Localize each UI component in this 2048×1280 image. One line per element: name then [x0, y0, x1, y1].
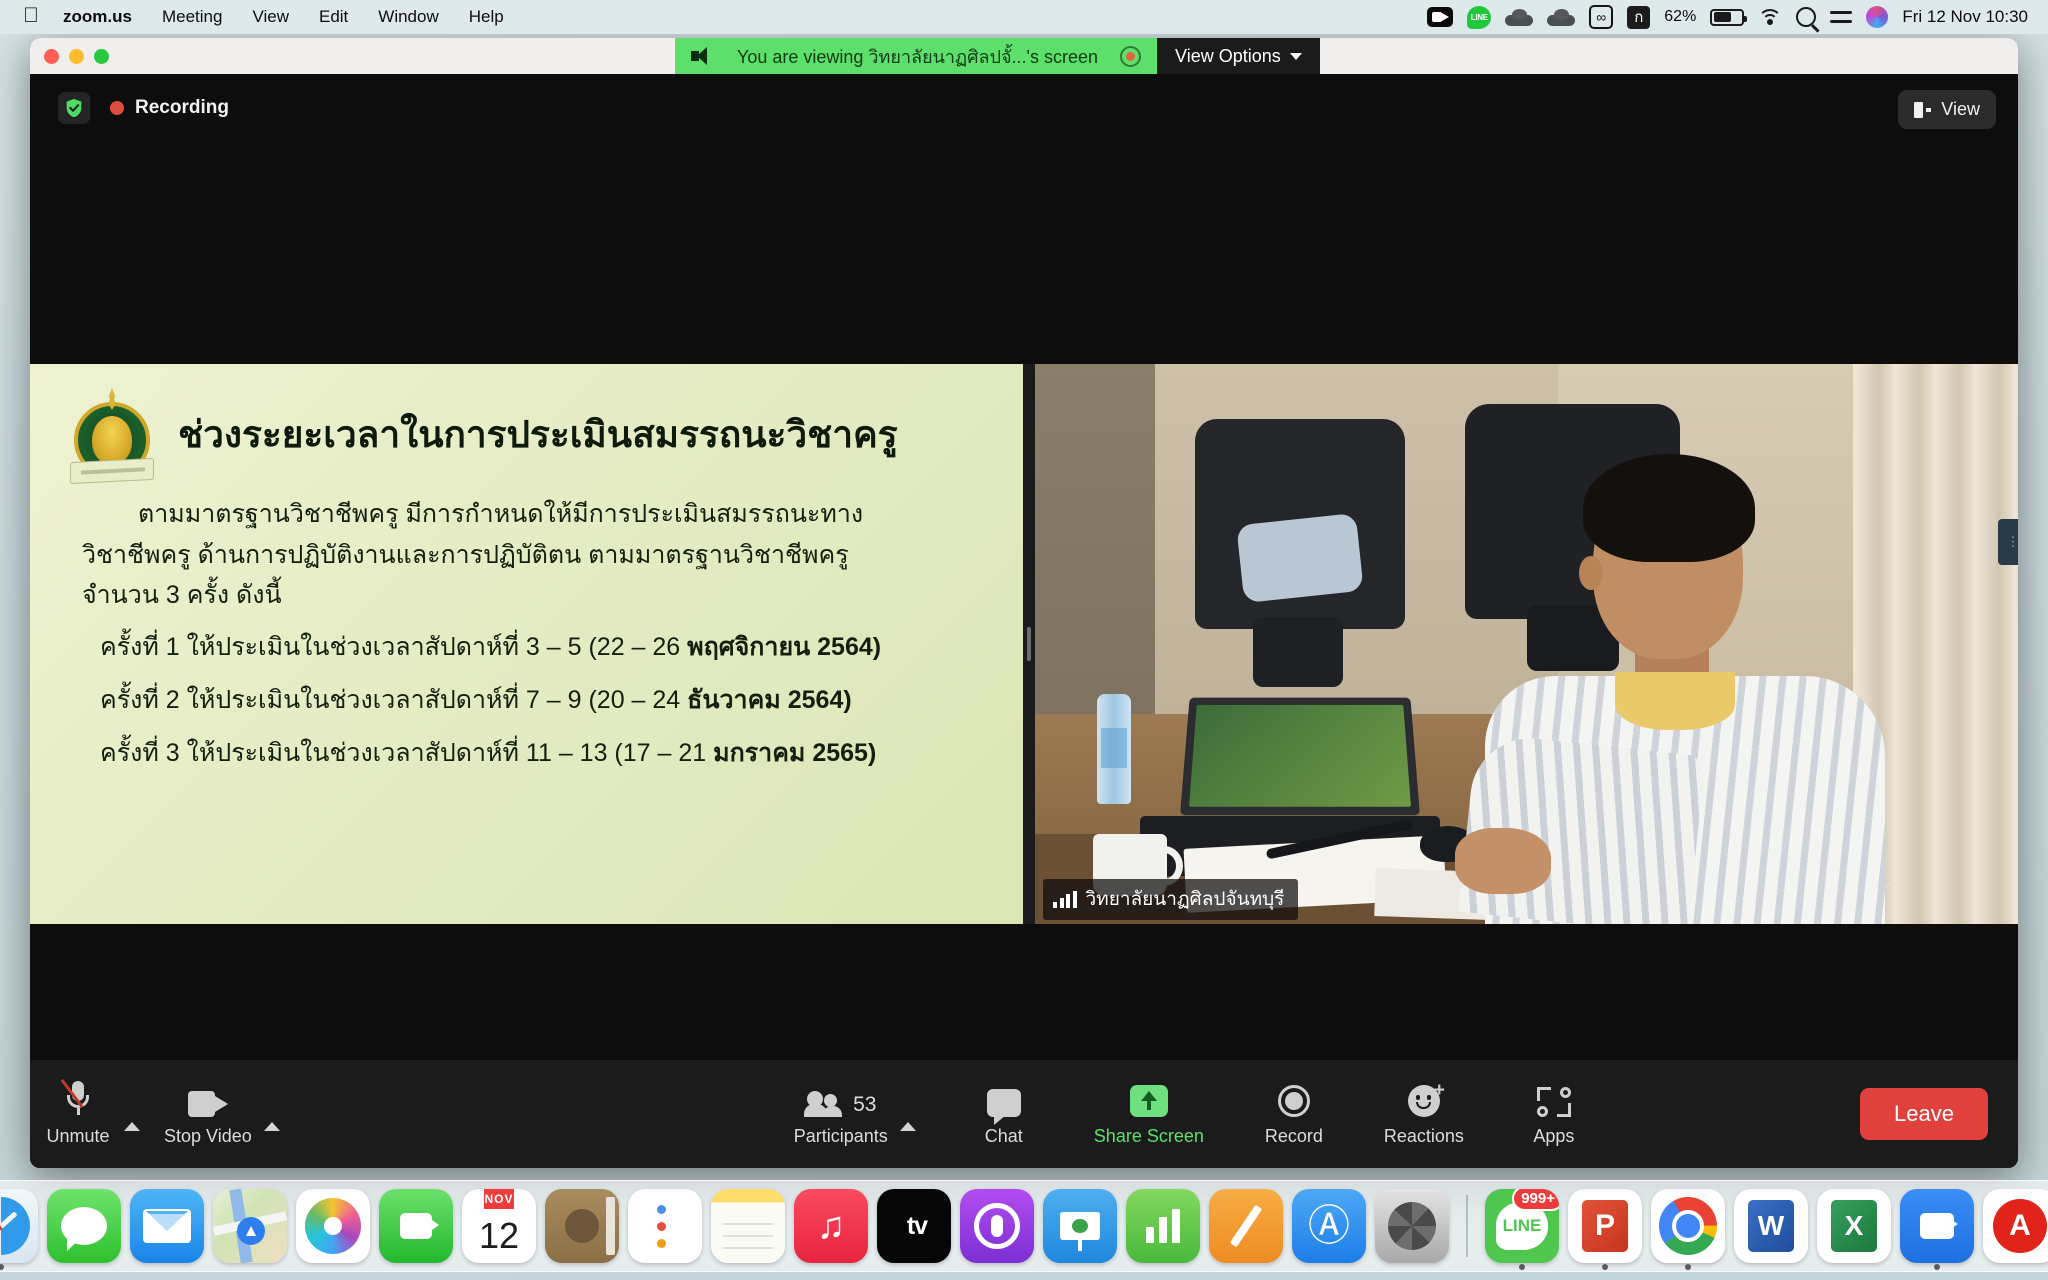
record-button[interactable]: Record — [1246, 1081, 1342, 1147]
running-indicator — [1685, 1264, 1691, 1270]
record-circle-icon — [1278, 1081, 1310, 1117]
dock-item-app-store-wrap: Ⓐ — [1292, 1189, 1366, 1263]
dock-item-app-store[interactable]: Ⓐ — [1292, 1189, 1366, 1263]
slide-paragraph-line-2: วิชาชีพครู ด้านการปฏิบัติงานและการปฏิบัต… — [82, 541, 849, 569]
line-icon[interactable]: LINE — [1467, 6, 1491, 29]
calendar-day: 12 — [479, 1209, 519, 1263]
dock-item-acrobat[interactable]: A — [1983, 1189, 2048, 1263]
participants-controls: 53 Participants — [780, 1081, 926, 1147]
bullet-3-bold: มกราคม 2565) — [713, 739, 876, 767]
menu-item-window[interactable]: Window — [363, 4, 453, 30]
dock-item-apple-tv-wrap: tv — [877, 1189, 951, 1263]
menu-bar-status-area: LINE ∞ ก 62% Fri 12 Nov 10:30 — [1427, 5, 2034, 29]
word-letter: W — [1748, 1200, 1794, 1252]
running-indicator — [1519, 1264, 1525, 1270]
bullet-3-text: ครั้งที่ 3 ให้ประเมินในช่วงเวลาสัปดาห์ที… — [100, 739, 713, 767]
participant-name-label: วิทยาลัยนาฏศิลปจันทบุรี — [1043, 879, 1298, 920]
battery-icon[interactable] — [1710, 9, 1744, 26]
slide-bullet-item: ครั้งที่ 1 ให้ประเมินในช่วงเวลาสัปดาห์ที… — [100, 632, 1023, 662]
apple-logo-icon[interactable]:  — [14, 5, 48, 29]
thai-input-icon[interactable]: ก — [1627, 6, 1650, 29]
participants-label: Participants — [794, 1126, 888, 1147]
dock-item-numbers[interactable] — [1126, 1189, 1200, 1263]
dock-item-powerpoint-wrap: P — [1568, 1189, 1642, 1263]
dock-item-excel[interactable]: X — [1817, 1189, 1891, 1263]
menu-item-help[interactable]: Help — [454, 4, 519, 30]
unmute-label: Unmute — [46, 1126, 109, 1147]
dock-item-messages-wrap — [47, 1189, 121, 1263]
stop-video-button[interactable]: Stop Video — [150, 1081, 266, 1147]
apps-label: Apps — [1533, 1126, 1574, 1147]
zoom-content-area: Recording View ช่วงระยะเวลาในการประเมินส… — [30, 74, 2018, 1168]
menu-item-view[interactable]: View — [237, 4, 304, 30]
dock-item-music-wrap: ♫ — [794, 1189, 868, 1263]
mac-menu-bar:  zoom.us Meeting View Edit Window Help … — [0, 0, 2048, 34]
slide-bullet-list: ครั้งที่ 1 ให้ประเมินในช่วงเวลาสัปดาห์ที… — [30, 616, 1023, 768]
camera-icon — [188, 1081, 228, 1117]
dock-item-safari-wrap — [0, 1189, 38, 1263]
dock-item-notes-wrap — [711, 1189, 785, 1263]
running-indicator — [0, 1264, 4, 1270]
recording-indicator[interactable]: Recording — [110, 97, 229, 119]
video-laptop — [1180, 698, 1420, 816]
participants-count: 53 — [853, 1093, 876, 1117]
chat-label: Chat — [985, 1126, 1023, 1147]
line-unread-badge: 999+ — [1512, 1189, 1559, 1211]
mac-dock: ▲ NOV 12 — [0, 1180, 2048, 1272]
slide-bullet-item: ครั้งที่ 3 ให้ประเมินในช่วงเวลาสัปดาห์ที… — [100, 738, 1023, 768]
video-person — [1475, 444, 1895, 924]
dock-item-maps-wrap: ▲ — [213, 1189, 287, 1263]
reactions-button[interactable]: + Reactions — [1370, 1081, 1478, 1147]
dock-item-reminders[interactable] — [628, 1189, 702, 1263]
people-icon: 53 — [805, 1081, 876, 1117]
music-note-icon: ♫ — [817, 1207, 846, 1245]
control-center-icon[interactable] — [1830, 8, 1852, 26]
slide-paragraph-line-1: ตามมาตรฐานวิชาชีพครู มีการกำหนดให้มีการป… — [138, 500, 863, 528]
video-options-caret[interactable] — [264, 1105, 280, 1123]
recording-label: Recording — [135, 97, 229, 119]
slide-bullet-item: ครั้งที่ 2 ให้ประเมินในช่วงเวลาสัปดาห์ที… — [100, 685, 1023, 715]
zoom-toolbar: Unmute Stop Video — [30, 1060, 2018, 1168]
share-screen-label: Share Screen — [1094, 1126, 1204, 1147]
recording-status-bar: Recording — [58, 92, 229, 124]
zoom-meeting-window: You are viewing วิทยาลัยนาฏศิลปจั้...'s … — [30, 38, 2018, 1168]
dock-item-excel-wrap: X — [1817, 1189, 1891, 1263]
menu-item-zoom-us[interactable]: zoom.us — [48, 4, 147, 30]
dock-item-keynote-wrap — [1043, 1189, 1117, 1263]
dock-item-powerpoint[interactable]: P — [1568, 1189, 1642, 1263]
menu-bar-clock[interactable]: Fri 12 Nov 10:30 — [1902, 7, 2028, 27]
view-layout-button[interactable]: View — [1898, 90, 1996, 129]
slide-paragraph: ตามมาตรฐานวิชาชีพครู มีการกำหนดให้มีการป… — [30, 484, 1023, 616]
chevron-up-icon — [124, 1105, 140, 1131]
cloud-icon[interactable] — [1505, 9, 1533, 26]
stop-video-label: Stop Video — [164, 1126, 252, 1147]
chevron-up-icon — [264, 1105, 280, 1131]
menu-item-edit[interactable]: Edit — [304, 4, 363, 30]
microphone-muted-icon — [65, 1081, 91, 1117]
dock-item-photos-wrap — [296, 1189, 370, 1263]
screen-root:  zoom.us Meeting View Edit Window Help … — [0, 0, 2048, 1280]
dock-item-maps[interactable]: ▲ — [213, 1189, 287, 1263]
dock-item-system-preferences-wrap — [1375, 1189, 1449, 1263]
search-icon[interactable] — [1796, 7, 1816, 27]
calendar-month: NOV — [484, 1189, 513, 1209]
minimize-window-button[interactable] — [69, 49, 84, 64]
participant-video-tile[interactable]: วิทยาลัยนาฏศิลปจันทบุรี — [1035, 364, 2018, 924]
share-screen-button[interactable]: Share Screen — [1080, 1081, 1218, 1147]
dock-item-numbers-wrap — [1126, 1189, 1200, 1263]
dock-item-chrome-wrap — [1651, 1189, 1725, 1263]
cloud-icon[interactable] — [1547, 9, 1575, 26]
viewing-notice: You are viewing วิทยาลัยนาฏศิลปจั้...'s … — [675, 38, 1157, 74]
slide-paragraph-line-3: จำนวน 3 ครั้ง ดังนี้ — [82, 581, 282, 609]
bullet-1-text: ครั้งที่ 1 ให้ประเมินในช่วงเวลาสัปดาห์ที… — [100, 633, 687, 661]
participant-name-text: วิทยาลัยนาฏศิลปจันทบุรี — [1086, 884, 1285, 914]
dock-item-photos[interactable] — [296, 1189, 370, 1263]
speaker-icon — [691, 47, 715, 65]
dock-item-safari[interactable] — [0, 1189, 38, 1263]
apps-icon — [1537, 1081, 1571, 1117]
maximize-window-button[interactable] — [94, 49, 109, 64]
video-water-bottle — [1097, 694, 1131, 804]
reactions-label: Reactions — [1384, 1126, 1464, 1147]
audio-controls: Unmute — [30, 1081, 150, 1147]
share-screen-icon — [1130, 1081, 1168, 1117]
screen-share-banner: You are viewing วิทยาลัยนาฏศิลปจั้...'s … — [675, 38, 1320, 74]
recording-dot-icon — [110, 101, 124, 115]
dock-item-zoom-wrap — [1900, 1189, 1974, 1263]
dock-item-calendar[interactable]: NOV 12 — [462, 1189, 536, 1263]
siri-icon[interactable] — [1866, 6, 1888, 28]
dock-item-mail[interactable] — [130, 1189, 204, 1263]
dock-item-system-preferences[interactable] — [1375, 1189, 1449, 1263]
apps-button[interactable]: Apps — [1506, 1081, 1602, 1147]
wifi-icon[interactable] — [1758, 8, 1782, 26]
unmute-button[interactable]: Unmute — [30, 1081, 126, 1147]
shared-content-stage: ช่วงระยะเวลาในการประเมินสมรรถนะวิชาครู ต… — [30, 364, 2018, 924]
menu-item-meeting[interactable]: Meeting — [147, 4, 237, 30]
dock-item-word-wrap: W — [1734, 1189, 1808, 1263]
bullet-1-bold: พฤศจิกายน 2564) — [687, 633, 881, 661]
app-store-glyph: Ⓐ — [1308, 1205, 1350, 1247]
zoom-camera-icon[interactable] — [1427, 7, 1453, 27]
dock-item-chrome[interactable] — [1651, 1189, 1725, 1263]
dock-item-keynote[interactable] — [1043, 1189, 1117, 1263]
view-button-label: View — [1941, 99, 1980, 120]
encryption-shield-icon[interactable] — [58, 92, 90, 124]
side-panel-edge-tab[interactable]: ⋮ — [1998, 519, 2018, 565]
powerpoint-letter: P — [1582, 1200, 1628, 1252]
dock-item-contacts-wrap — [545, 1189, 619, 1263]
smiley-plus-icon: + — [1408, 1081, 1440, 1117]
dock-item-reminders-wrap — [628, 1189, 702, 1263]
dock-item-facetime-wrap — [379, 1189, 453, 1263]
dock-item-calendar-wrap: NOV 12 — [462, 1189, 536, 1263]
dock-item-mail-wrap — [130, 1189, 204, 1263]
bullet-2-text: ครั้งที่ 2 ให้ประเมินในช่วงเวลาสัปดาห์ที… — [100, 686, 687, 714]
thai-royal-emblem-logo — [68, 386, 156, 484]
dock-item-line-wrap: 999+ LINE — [1485, 1189, 1559, 1263]
running-indicator — [1934, 1264, 1940, 1270]
chevron-down-icon — [1290, 53, 1302, 60]
battery-percent-label: 62% — [1664, 8, 1696, 26]
dock-item-pages[interactable] — [1209, 1189, 1283, 1263]
shared-slide[interactable]: ช่วงระยะเวลาในการประเมินสมรรถนะวิชาครู ต… — [30, 364, 1023, 924]
adobe-creative-cloud-icon[interactable]: ∞ — [1589, 5, 1613, 29]
chat-bubble-icon — [987, 1081, 1021, 1117]
acrobat-letter: A — [1993, 1199, 2047, 1253]
slide-header: ช่วงระยะเวลาในการประเมินสมรรถนะวิชาครู — [30, 364, 1023, 484]
dock-item-line[interactable]: 999+ LINE — [1485, 1189, 1559, 1263]
dock-item-podcasts[interactable] — [960, 1189, 1034, 1263]
participants-options-caret[interactable] — [900, 1105, 916, 1123]
leave-button[interactable]: Leave — [1860, 1088, 1988, 1140]
dock-item-zoom[interactable] — [1900, 1189, 1974, 1263]
slide-title: ช่วงระยะเวลาในการประเมินสมรรถนะวิชาครู — [178, 415, 898, 456]
apple-tv-label: tv — [901, 1212, 927, 1241]
stage-splitter-handle[interactable] — [1023, 364, 1035, 924]
bullet-2-bold: ธันวาคม 2564) — [687, 686, 852, 714]
dock-item-facetime[interactable] — [379, 1189, 453, 1263]
view-options-label: View Options — [1175, 46, 1281, 67]
dock-separator — [1466, 1195, 1468, 1257]
dock-item-contacts[interactable] — [545, 1189, 619, 1263]
layout-view-icon — [1914, 102, 1931, 118]
close-window-button[interactable] — [44, 49, 59, 64]
dock-item-music[interactable]: ♫ — [794, 1189, 868, 1263]
audio-options-caret[interactable] — [124, 1105, 140, 1123]
dock-item-pages-wrap — [1209, 1189, 1283, 1263]
chevron-up-icon — [900, 1105, 916, 1131]
participants-button[interactable]: 53 Participants — [780, 1081, 902, 1147]
running-indicator — [1602, 1264, 1608, 1270]
zoom-title-bar: You are viewing วิทยาลัยนาฏศิลปจั้...'s … — [30, 38, 2018, 74]
dock-item-acrobat-wrap: A — [1983, 1189, 2048, 1263]
dock-item-apple-tv[interactable]: tv — [877, 1189, 951, 1263]
record-label: Record — [1265, 1126, 1323, 1147]
dock-item-word[interactable]: W — [1734, 1189, 1808, 1263]
screen-share-record-indicator — [1120, 46, 1141, 67]
video-cushion — [1236, 513, 1363, 603]
chat-button[interactable]: Chat — [956, 1081, 1052, 1147]
dock-item-messages[interactable] — [47, 1189, 121, 1263]
window-traffic-lights — [44, 49, 109, 64]
dock-item-podcasts-wrap — [960, 1189, 1034, 1263]
menu-bar-left:  zoom.us Meeting View Edit Window Help — [14, 4, 519, 30]
viewing-notice-text: You are viewing วิทยาลัยนาฏศิลปจั้...'s … — [737, 42, 1098, 71]
excel-letter: X — [1831, 1200, 1877, 1252]
signal-bars-icon — [1053, 891, 1077, 908]
dock-item-notes[interactable] — [711, 1189, 785, 1263]
video-controls: Stop Video — [150, 1081, 290, 1147]
view-options-button[interactable]: View Options — [1157, 38, 1320, 74]
